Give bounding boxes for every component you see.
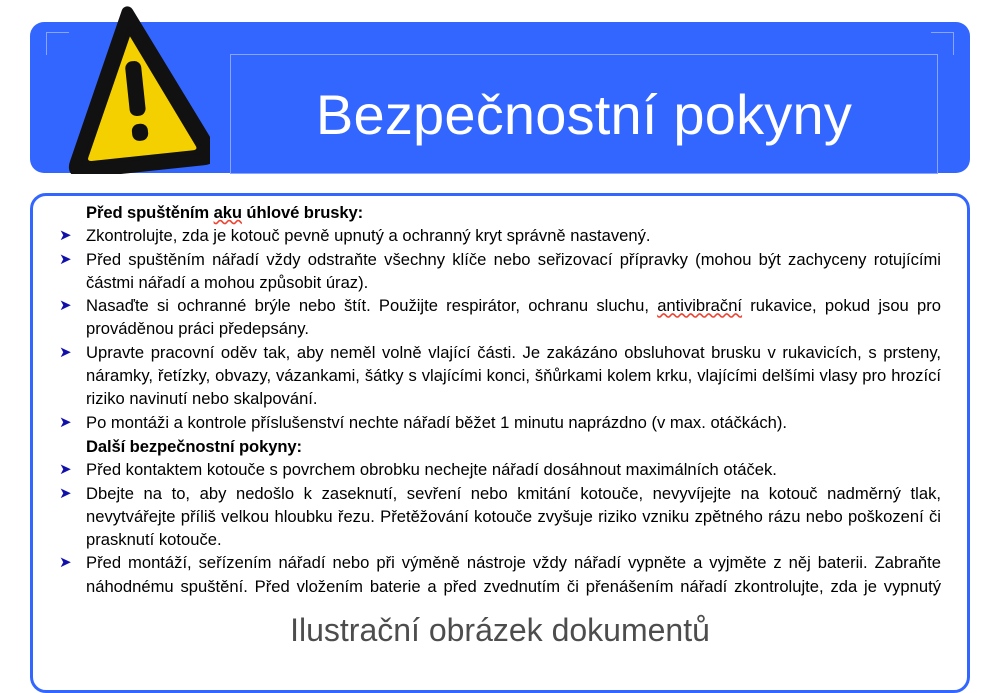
- list-item: ➤ Po montáži a kontrole příslušenství ne…: [59, 411, 941, 434]
- list-item: ➤ Zkontrolujte, zda je kotouč pevně upnu…: [59, 224, 941, 247]
- misspelled-word-antivibracni: antivibrační: [657, 296, 742, 315]
- section1-heading-before: Před spuštěním: [86, 203, 214, 222]
- section2-heading: Další bezpečnostní pokyny:: [86, 435, 941, 458]
- list-item: ➤ Dbejte na to, aby nedošlo k zaseknutí,…: [59, 482, 941, 552]
- list-item: ➤ Upravte pracovní oděv tak, aby neměl v…: [59, 341, 941, 411]
- list-item: ➤ Před spuštěním nářadí vždy odstraňte v…: [59, 248, 941, 295]
- document-body: Před spuštěním aku úhlové brusky: ➤ Zkon…: [59, 201, 941, 600]
- list-item-text: Upravte pracovní oděv tak, aby neměl vol…: [86, 343, 941, 409]
- list-item-text: Zkontrolujte, zda je kotouč pevně upnutý…: [86, 226, 651, 245]
- list-item-text: Před spuštěním nářadí vždy odstraňte vše…: [86, 250, 941, 292]
- bullet-arrow-icon: ➤: [59, 411, 72, 434]
- bullet-arrow-icon: ➤: [59, 458, 72, 481]
- section-heading-before-start: Před spuštěním aku úhlové brusky:: [86, 201, 941, 224]
- section1-heading-after: úhlové brusky:: [242, 203, 363, 222]
- bullet-arrow-icon: ➤: [59, 482, 72, 505]
- bullet-arrow-icon: ➤: [59, 224, 72, 247]
- misspelled-word-aku: aku: [214, 203, 242, 222]
- bullet-arrow-icon: ➤: [59, 294, 72, 317]
- bullet-arrow-icon: ➤: [59, 341, 72, 364]
- list-item: ➤Nasaďte si ochranné brýle nebo štít. Po…: [59, 294, 941, 341]
- page-title: Bezpečnostní pokyny: [230, 54, 938, 174]
- section1-bullet-list: ➤ Zkontrolujte, zda je kotouč pevně upnu…: [59, 224, 941, 434]
- list-item-text: Dbejte na to, aby nedošlo k zaseknutí, s…: [86, 484, 941, 550]
- list-item: ➤ Před montáží, seřízením nářadí nebo př…: [59, 551, 941, 600]
- bullet-arrow-icon: ➤: [59, 551, 72, 574]
- document-clip-region: Před spuštěním aku úhlové brusky: ➤ Zkon…: [33, 196, 967, 600]
- list-item-text: Po montáži a kontrole příslušenství nech…: [86, 413, 787, 432]
- list-item-text: Před montáží, seřízením nářadí nebo při …: [86, 553, 941, 600]
- image-caption: Ilustrační obrázek dokumentů: [0, 612, 1000, 649]
- list-item-text: Před kontaktem kotouče s povrchem obrobk…: [86, 460, 777, 479]
- warning-triangle-icon: [62, 6, 210, 174]
- section2-bullet-list: ➤ Před kontaktem kotouče s povrchem obro…: [59, 458, 941, 600]
- banner-corner-mark-top-right: [931, 32, 954, 55]
- list-item-text-before: Nasaďte si ochranné brýle nebo štít. Pou…: [86, 296, 657, 315]
- bullet-arrow-icon: ➤: [59, 248, 72, 271]
- list-item: ➤ Před kontaktem kotouče s povrchem obro…: [59, 458, 941, 481]
